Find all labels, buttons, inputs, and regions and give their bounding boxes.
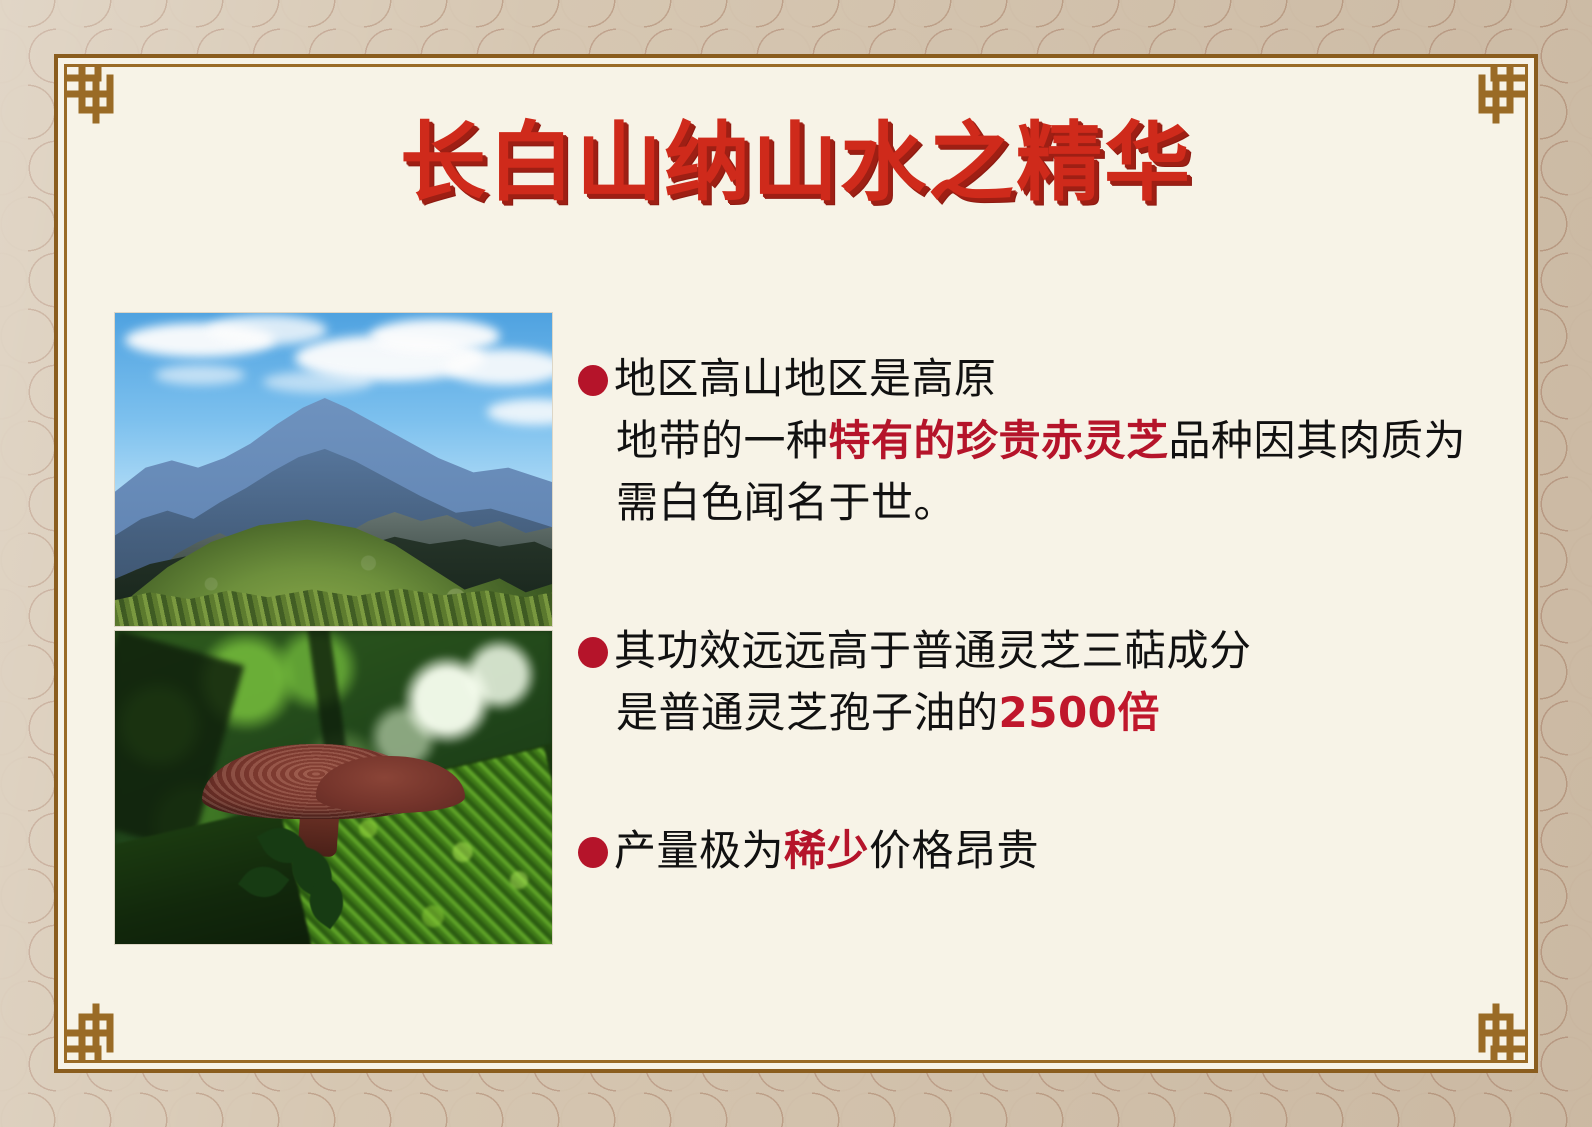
- bullet-line: 地区高山地区是高原: [578, 348, 1480, 410]
- bullet-line: 地带的一种特有的珍贵赤灵芝品种因其肉质为: [578, 410, 1480, 472]
- bullet-text-highlight: 特有的珍贵赤灵芝: [829, 416, 1169, 465]
- bullet-line: 需白色闻名于世。: [578, 472, 1480, 534]
- reishi-photo: [115, 631, 552, 944]
- bullet-item-2: 其功效远远高于普通灵芝三萜成分 是普通灵芝孢子油的2500倍: [578, 620, 1480, 744]
- bullet-text: 是普通灵芝孢子油的: [616, 688, 999, 737]
- page-title: 长白山纳山水之精华: [400, 118, 1192, 208]
- bullet-text: 地区高山地区是高原: [614, 354, 997, 403]
- bullet-text: 需白色闻名于世。: [616, 478, 956, 527]
- bullet-text: 价格昂贵: [869, 826, 1039, 875]
- bullet-content: 地区高山地区是高原 地带的一种特有的珍贵赤灵芝品种因其肉质为 需白色闻名于世。 …: [578, 348, 1480, 882]
- corner-knot-ornament-bottom-left: [64, 1003, 124, 1063]
- page-title-wrapper: 长白山纳山水之精华: [0, 118, 1592, 208]
- bullet-line: 其功效远远高于普通灵芝三萜成分: [578, 620, 1480, 682]
- bullet-text: 品种因其肉质为: [1169, 416, 1467, 465]
- cloud: [263, 371, 373, 393]
- bullet-line: 产量极为稀少价格昂贵: [578, 820, 1480, 882]
- bullet-item-3: 产量极为稀少价格昂贵: [578, 820, 1480, 882]
- bullet-text: 其功效远远高于普通灵芝三萜成分: [614, 626, 1252, 675]
- bullet-dot-icon: [578, 637, 608, 668]
- bullet-line: 是普通灵芝孢子油的2500倍: [578, 682, 1480, 744]
- cloud: [155, 365, 245, 385]
- cloud: [370, 319, 500, 353]
- bullet-dot-icon: [578, 837, 608, 868]
- photo-column: [115, 313, 552, 944]
- corner-knot-ornament-bottom-right: [1468, 1003, 1528, 1063]
- bullet-text: 地带的一种: [616, 416, 829, 465]
- bullet-text-number: 2500倍: [999, 688, 1160, 737]
- corner-knot-ornament-top-right: [1468, 64, 1528, 124]
- bullet-text: 产量极为: [614, 826, 784, 875]
- corner-knot-ornament-top-left: [64, 64, 124, 124]
- bullet-dot-icon: [578, 365, 608, 396]
- mountain-photo: [115, 313, 552, 626]
- bullet-item-1: 地区高山地区是高原 地带的一种特有的珍贵赤灵芝品种因其肉质为 需白色闻名于世。: [578, 348, 1480, 534]
- poster-root: 长白山纳山水之精华: [0, 0, 1592, 1127]
- bullet-text-highlight: 稀少: [784, 826, 869, 875]
- cloud: [207, 315, 327, 345]
